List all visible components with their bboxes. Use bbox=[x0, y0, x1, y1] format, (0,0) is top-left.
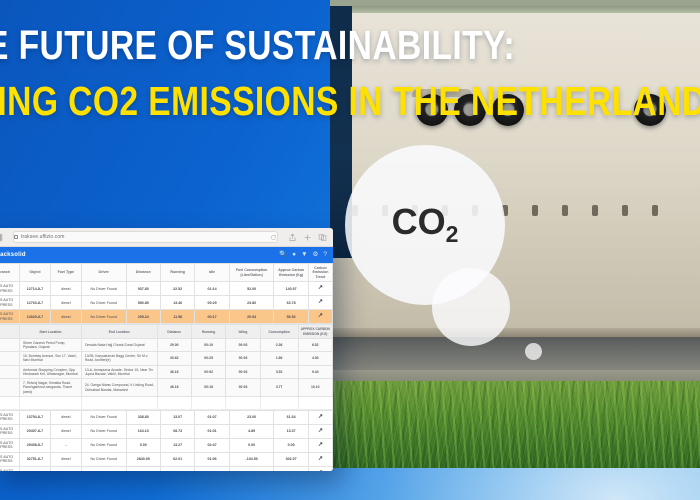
trip-emission: 10.10 bbox=[298, 379, 332, 397]
col-trip-idling[interactable]: Idling bbox=[226, 325, 260, 338]
table-row[interactable]: AGS AUTO EXPRESS29408-8-7--No Driver Fou… bbox=[0, 438, 333, 452]
branch-cell: AGS AUTO EXPRESS bbox=[0, 424, 19, 438]
fuel-cell: diesel bbox=[50, 296, 81, 310]
app-header-icons[interactable]: 🔍 ● ▼ ⚙ ? bbox=[279, 252, 327, 259]
running-cell: 08.73 bbox=[160, 424, 194, 438]
trend-up-icon[interactable]: ↗ bbox=[308, 296, 332, 310]
distance-cell: 295.24 bbox=[126, 310, 160, 324]
col-trip-consumption[interactable]: Consumption bbox=[260, 325, 298, 338]
object-cell: 12714-8-7 bbox=[19, 282, 50, 296]
running-cell: 62.01 bbox=[160, 452, 194, 466]
object-cell: 13754-8-7 bbox=[19, 410, 50, 424]
show-tabs-icon[interactable] bbox=[318, 233, 327, 242]
emission-cell: 0.00 bbox=[274, 438, 308, 452]
object-cell: 20407-8-7 bbox=[19, 424, 50, 438]
trip-consumption: 1.66 bbox=[260, 352, 298, 366]
col-consumption[interactable]: Fuel Consumption (Liter/Gallon) bbox=[229, 264, 274, 282]
fuel-cell: -- bbox=[50, 438, 81, 452]
reload-icon[interactable] bbox=[270, 234, 277, 241]
trip-idling: 00:03 bbox=[226, 379, 260, 397]
trip-end-location: 10/35, Kanyakumari Bagg Centre, Sir M.v.… bbox=[81, 352, 157, 366]
idle-cell: 01:06 bbox=[195, 452, 229, 466]
trip-start-location: Ambrosia Shopping Complex, Opp Hinduwadi… bbox=[19, 365, 81, 379]
distance-cell: 580.85 bbox=[126, 296, 160, 310]
trend-up-icon[interactable]: ↗ bbox=[308, 282, 332, 296]
col-fuel[interactable]: Fuel Type bbox=[50, 264, 81, 282]
lock-icon bbox=[14, 235, 18, 239]
trip-running: 00:18 bbox=[191, 379, 225, 397]
trip-emission: 4.30 bbox=[298, 352, 332, 366]
settings-icon[interactable]: ⚙ bbox=[313, 252, 319, 259]
driver-cell: No Driver Found bbox=[81, 452, 126, 466]
trailer-bottom-rail bbox=[330, 328, 700, 337]
idle-cell: 00:29 bbox=[195, 296, 229, 310]
branch-cell: AGS AUTO EXPRESS bbox=[0, 282, 19, 296]
distance-cell: 164.13 bbox=[126, 424, 160, 438]
table-header-row: Branch Object Fuel Type Driver Distance … bbox=[0, 264, 333, 282]
trip-start-location: 7, Shivraj Nagar, Kimalka Road, Panchgak… bbox=[19, 379, 81, 397]
trip-emission: 6.52 bbox=[298, 338, 332, 352]
idle-cell: 00:17 bbox=[195, 310, 229, 324]
trend-up-icon[interactable]: ↗ bbox=[308, 310, 332, 324]
idle-cell: 02:47 bbox=[195, 438, 229, 452]
table-body-continued[interactable]: AGS AUTO EXPRESS13754-8-7dieselNo Driver… bbox=[0, 410, 333, 471]
co2-label: CO2 bbox=[392, 201, 459, 248]
emission-cell: 56.52 bbox=[274, 310, 308, 324]
driver-cell: No Driver Found bbox=[81, 310, 126, 324]
trip-row-empty bbox=[0, 396, 333, 409]
running-cell: 13.27 bbox=[160, 438, 194, 452]
col-running[interactable]: Running bbox=[160, 264, 194, 282]
trip-start-location: Shree Ganesh Petrol Pump, Pipodara, Guja… bbox=[19, 338, 81, 352]
trip-spacer-cell bbox=[0, 365, 19, 379]
distance-cell: 0.00 bbox=[126, 438, 160, 452]
driver-cell: No Driver Found bbox=[81, 424, 126, 438]
fuel-cell: diesel bbox=[50, 424, 81, 438]
table-row[interactable]: AGS AUTO EXPRESS12763-8-7dieselNo Driver… bbox=[0, 296, 333, 310]
browser-window[interactable]: traksee.uffizio.com Tracksolid 🔍 ● ▼ ⚙ ? bbox=[0, 228, 333, 471]
idle-cell: 01:14 bbox=[195, 282, 229, 296]
truck-wheel bbox=[454, 94, 486, 126]
col-spacer bbox=[0, 325, 19, 338]
consumption-cell: 52.00 bbox=[229, 282, 274, 296]
col-idle[interactable]: Idle bbox=[195, 264, 229, 282]
new-tab-icon[interactable] bbox=[303, 233, 312, 242]
help-icon[interactable]: ? bbox=[323, 252, 327, 259]
table-row[interactable]: AGS AUTO EXPRESS20407-8-7dieselNo Driver… bbox=[0, 424, 333, 438]
running-cell: 22.52 bbox=[160, 282, 194, 296]
branch-cell: AGS AUTO EXPRESS bbox=[0, 296, 19, 310]
distance-cell: 338.80 bbox=[126, 410, 160, 424]
trip-consumption: 2.36 bbox=[260, 338, 298, 352]
driver-cell: No Driver Found bbox=[81, 410, 126, 424]
object-cell: 12763-8-7 bbox=[19, 296, 50, 310]
table-row[interactable]: AGS AUTO EXPRESS13754-8-7dieselNo Driver… bbox=[0, 410, 333, 424]
col-branch[interactable]: Branch bbox=[0, 264, 19, 282]
trend-up-icon[interactable]: ↗ bbox=[308, 410, 332, 424]
col-trip-distance[interactable]: Distance bbox=[157, 325, 191, 338]
driver-cell: No Driver Found bbox=[81, 296, 126, 310]
trip-distance: 46.16 bbox=[157, 379, 191, 397]
col-trend[interactable]: Carbon Emission Trend bbox=[308, 264, 332, 282]
reader-view-icon[interactable] bbox=[0, 233, 3, 242]
emission-cell: 63.78 bbox=[274, 296, 308, 310]
fuel-cell: diesel bbox=[50, 310, 81, 324]
branch-cell: AGS AUTO EXPRESS bbox=[0, 438, 19, 452]
trailer-top-rail bbox=[330, 6, 700, 13]
trend-up-icon[interactable]: ↗ bbox=[308, 424, 332, 438]
share-icon[interactable] bbox=[288, 233, 297, 242]
object-cell: 32751-8-7 bbox=[19, 452, 50, 466]
trip-idling: 00:03 bbox=[226, 352, 260, 366]
trip-table-body[interactable]: Shree Ganesh Petrol Pump, Pipodara, Guja… bbox=[0, 338, 333, 409]
distance-cell: 937.80 bbox=[126, 282, 160, 296]
col-distance[interactable]: Distance bbox=[126, 264, 160, 282]
emission-cell: 13.37 bbox=[274, 424, 308, 438]
trip-spacer-cell bbox=[0, 338, 19, 352]
trip-row[interactable]: 7, Shivraj Nagar, Kimalka Road, Panchgak… bbox=[0, 379, 333, 397]
trip-distance: 30.62 bbox=[157, 352, 191, 366]
consumption-cell: -104.50 bbox=[229, 452, 274, 466]
filter-icon[interactable]: ▼ bbox=[301, 252, 307, 259]
idle-cell: 01:01 bbox=[195, 424, 229, 438]
object-cell: 29408-8-7 bbox=[19, 438, 50, 452]
trip-end-location: 24, Ganga Niwas Compound, It Linking Roa… bbox=[81, 379, 157, 397]
trip-running: 00:25 bbox=[191, 352, 225, 366]
consumption-cell: 23.80 bbox=[229, 296, 274, 310]
col-emission[interactable]: Approx Carbon Emission (Kg) bbox=[274, 264, 308, 282]
fuel-cell: diesel bbox=[50, 452, 81, 466]
bottom-navy-band bbox=[0, 468, 700, 500]
trip-end-location: Omsala Naka Hajj Chowk,Surat Gujarat bbox=[81, 338, 157, 352]
truck-wheel bbox=[634, 94, 666, 126]
trip-row[interactable]: Ambrosia Shopping Complex, Opp Hinduwadi… bbox=[0, 365, 333, 379]
trip-consumption: 3.52 bbox=[260, 365, 298, 379]
trip-idling: 00:03 bbox=[226, 338, 260, 352]
report-table-area[interactable]: Branch Object Fuel Type Driver Distance … bbox=[0, 263, 333, 471]
trip-end-location: 13-A, Annapurna Arcade, Sector 15, Near … bbox=[81, 365, 157, 379]
co2-bubble-tiny bbox=[525, 343, 542, 360]
trip-distance: 29.00 bbox=[157, 338, 191, 352]
grass-field bbox=[330, 381, 700, 468]
consumption-cell: 0.00 bbox=[229, 438, 274, 452]
notification-icon[interactable]: ● bbox=[292, 252, 296, 259]
co2-bubble-small bbox=[432, 268, 510, 346]
url-text: traksee.uffizio.com bbox=[21, 234, 65, 240]
trip-spacer-cell bbox=[0, 379, 19, 397]
app-header-bar[interactable]: Tracksolid 🔍 ● ▼ ⚙ ? bbox=[0, 247, 333, 263]
trip-detail-table[interactable]: Start Location End Location Distance Run… bbox=[0, 324, 333, 409]
table-body[interactable]: AGS AUTO EXPRESS12714-8-7dieselNo Driver… bbox=[0, 282, 333, 324]
truck-wheel bbox=[492, 94, 524, 126]
object-cell: 14029-8-7 bbox=[19, 310, 50, 324]
trip-distance: 46.16 bbox=[157, 365, 191, 379]
trip-running: 00:19 bbox=[191, 338, 225, 352]
search-icon[interactable]: 🔍 bbox=[279, 252, 287, 259]
fuel-cell: diesel bbox=[50, 282, 81, 296]
emission-cell: 61.64 bbox=[274, 410, 308, 424]
col-trip-running[interactable]: Running bbox=[191, 325, 225, 338]
driver-cell: No Driver Found bbox=[81, 282, 126, 296]
trip-spacer-cell bbox=[0, 352, 19, 366]
trip-running: 00:52 bbox=[191, 365, 225, 379]
consumption-cell: 4.89 bbox=[229, 424, 274, 438]
trip-idling: 00:03 bbox=[226, 365, 260, 379]
app-logo: Tracksolid bbox=[0, 252, 26, 258]
trip-emission: 9.44 bbox=[298, 365, 332, 379]
emissions-table-continued[interactable]: AGS AUTO EXPRESS13754-8-7dieselNo Driver… bbox=[0, 410, 333, 471]
driver-cell: No Driver Found bbox=[81, 438, 126, 452]
fuel-cell: diesel bbox=[50, 410, 81, 424]
idle-cell: 01:07 bbox=[195, 410, 229, 424]
branch-cell: AGS AUTO EXPRESS bbox=[0, 410, 19, 424]
col-end-location[interactable]: End Location bbox=[81, 325, 157, 338]
truck-wheel bbox=[416, 94, 448, 126]
consumption-cell: 20.94 bbox=[229, 310, 274, 324]
col-start-location[interactable]: Start Location bbox=[19, 325, 81, 338]
emission-cell: 302.07 bbox=[274, 452, 308, 466]
running-cell: 13.07 bbox=[160, 410, 194, 424]
branch-cell: AGS AUTO EXPRESS bbox=[0, 452, 19, 466]
trend-up-icon[interactable]: ↗ bbox=[308, 438, 332, 452]
col-driver[interactable]: Driver bbox=[81, 264, 126, 282]
trip-row[interactable]: Shree Ganesh Petrol Pump, Pipodara, Guja… bbox=[0, 338, 333, 352]
trip-header-row: Start Location End Location Distance Run… bbox=[0, 325, 333, 338]
trip-start-location: 16, Bombay Avenue, Sec 17, Vashi, Navi M… bbox=[19, 352, 81, 366]
table-row[interactable]: AGS AUTO EXPRESS12714-8-7dieselNo Driver… bbox=[0, 282, 333, 296]
poster-stage: E FUTURE OF SUSTAINABILITY: CKING CO2 EM… bbox=[0, 0, 700, 500]
emissions-table[interactable]: Branch Object Fuel Type Driver Distance … bbox=[0, 263, 333, 324]
browser-toolbar[interactable]: traksee.uffizio.com bbox=[0, 228, 333, 247]
address-bar[interactable]: traksee.uffizio.com bbox=[13, 231, 278, 243]
running-cell: 11.58 bbox=[160, 310, 194, 324]
distance-cell: 2840.09 bbox=[126, 452, 160, 466]
trip-consumption: 3.77 bbox=[260, 379, 298, 397]
trend-up-icon[interactable]: ↗ bbox=[308, 452, 332, 466]
emission-cell: 140.97 bbox=[274, 282, 308, 296]
col-trip-emission[interactable]: APPROX CARBON EMISSION (KG) bbox=[298, 325, 332, 338]
table-row[interactable]: AGS AUTO EXPRESS14029-8-7dieselNo Driver… bbox=[0, 310, 333, 324]
table-row[interactable]: AGS AUTO EXPRESS32751-8-7dieselNo Driver… bbox=[0, 452, 333, 466]
col-object[interactable]: Object bbox=[19, 264, 50, 282]
branch-cell: AGS AUTO EXPRESS bbox=[0, 310, 19, 324]
consumption-cell: 23.00 bbox=[229, 410, 274, 424]
trip-row[interactable]: 16, Bombay Avenue, Sec 17, Vashi, Navi M… bbox=[0, 352, 333, 366]
running-cell: 13.46 bbox=[160, 296, 194, 310]
